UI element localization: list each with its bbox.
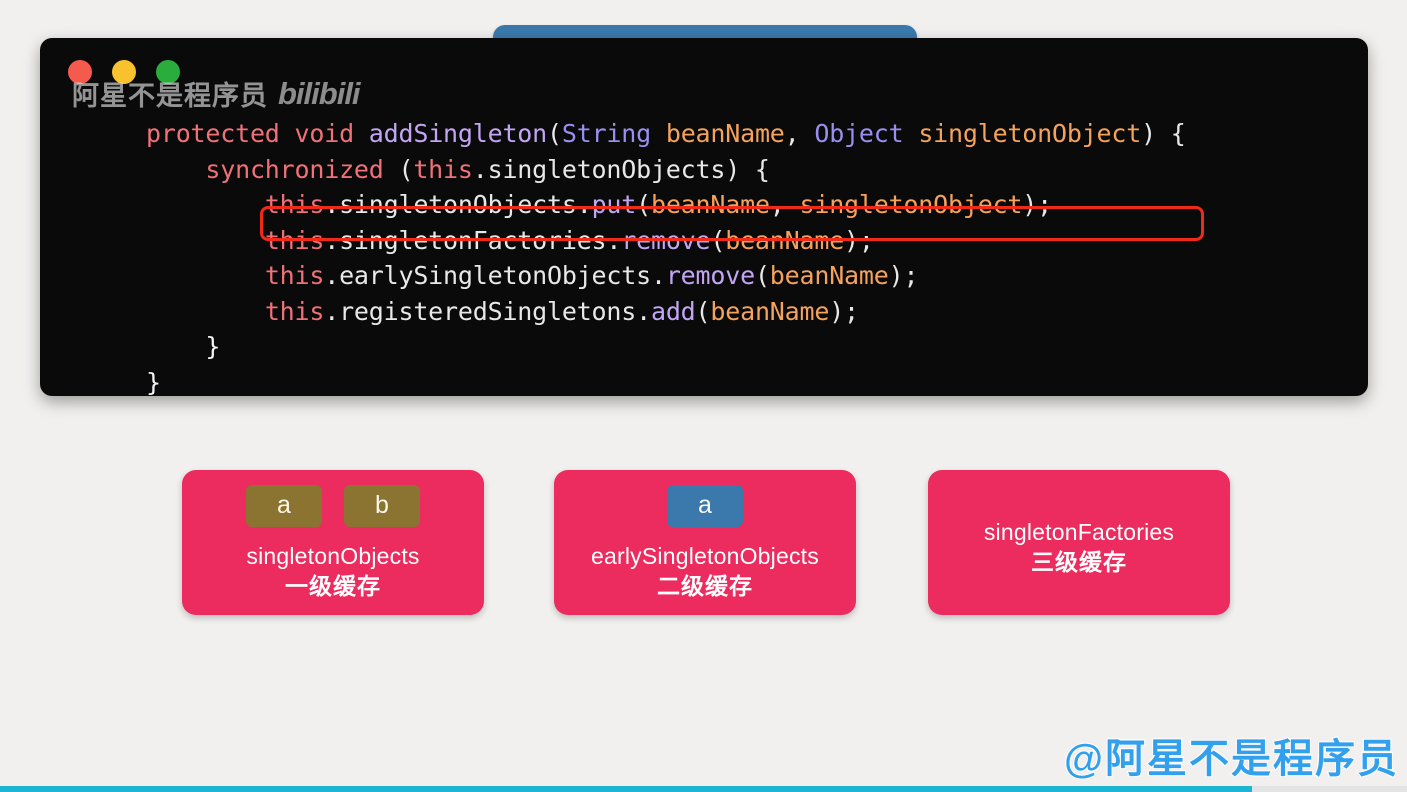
code-token: Object [814, 119, 903, 148]
minimize-window-dot-icon[interactable] [112, 60, 136, 84]
code-token: remove [621, 226, 710, 255]
cache-card-name: singletonObjects [246, 541, 419, 571]
code-indent [146, 332, 205, 361]
cache-cards-row: absingletonObjects一级缓存aearlySingletonObj… [0, 470, 1407, 615]
code-token: this [265, 190, 324, 219]
code-token: . [606, 226, 621, 255]
cache-card-name: earlySingletonObjects [591, 541, 819, 571]
video-progress-track[interactable] [0, 786, 1407, 792]
bean-chip: a [667, 485, 743, 527]
code-indent [146, 261, 265, 290]
code-indent [146, 226, 265, 255]
code-token: addSingleton [369, 119, 547, 148]
code-indent [146, 190, 265, 219]
code-token: put [592, 190, 637, 219]
code-token: beanName [710, 297, 829, 326]
code-token: ); [1022, 190, 1052, 219]
code-token: , [770, 190, 800, 219]
code-token: singletonObject [800, 190, 1023, 219]
code-token: synchronized [205, 155, 383, 184]
code-indent [146, 155, 205, 184]
code-token: remove [666, 261, 755, 290]
code-token: ( [636, 190, 651, 219]
code-line: this.registeredSingletons.add(beanName); [40, 294, 1368, 330]
cache-card-name: singletonFactories [984, 517, 1174, 547]
code-token [280, 119, 295, 148]
code-token: protected [146, 119, 280, 148]
code-token [903, 119, 918, 148]
code-token: String [562, 119, 651, 148]
code-block: protected void addSingleton(String beanN… [40, 116, 1368, 396]
video-progress-fill [0, 786, 1252, 792]
code-token: singletonObjects [339, 190, 577, 219]
close-window-dot-icon[interactable] [68, 60, 92, 84]
code-token: . [473, 155, 488, 184]
cache-card-level: 一级缓存 [285, 571, 381, 601]
code-indent [146, 297, 265, 326]
code-token: ( [696, 297, 711, 326]
code-line: this.singletonFactories.remove(beanName)… [40, 223, 1368, 259]
code-token [354, 119, 369, 148]
code-token [651, 119, 666, 148]
code-token: . [324, 261, 339, 290]
code-token: add [651, 297, 696, 326]
code-line: protected void addSingleton(String beanN… [40, 116, 1368, 152]
code-token: . [324, 190, 339, 219]
code-token: , [785, 119, 815, 148]
maximize-window-dot-icon[interactable] [156, 60, 180, 84]
watermark-bottom-right: @阿星不是程序员 [1064, 726, 1399, 784]
code-token: . [577, 190, 592, 219]
code-token: this [265, 297, 324, 326]
code-token: ); [829, 297, 859, 326]
cache-card-level: 三级缓存 [1031, 547, 1127, 577]
code-token: . [651, 261, 666, 290]
cache-chip-row: a [667, 485, 743, 527]
code-token: beanName [725, 226, 844, 255]
cache-chip-row: ab [246, 485, 420, 527]
code-token: . [324, 226, 339, 255]
code-token: earlySingletonObjects [339, 261, 651, 290]
code-token: ( [384, 155, 414, 184]
code-token: singletonObject [918, 119, 1141, 148]
code-line: synchronized (this.singletonObjects) { [40, 152, 1368, 188]
cache-card: singletonFactories三级缓存 [928, 470, 1230, 615]
code-token: ); [844, 226, 874, 255]
code-token: singletonObjects [488, 155, 726, 184]
code-token: } [146, 368, 161, 397]
cache-card: absingletonObjects一级缓存 [182, 470, 484, 615]
code-token: . [636, 297, 651, 326]
code-token: singletonFactories [339, 226, 606, 255]
cache-card-level: 二级缓存 [657, 571, 753, 601]
code-token: ( [547, 119, 562, 148]
code-token: beanName [770, 261, 889, 290]
code-token: this [413, 155, 472, 184]
bean-chip: a [246, 485, 322, 527]
code-token: ) { [1141, 119, 1186, 148]
code-line: this.earlySingletonObjects.remove(beanNa… [40, 258, 1368, 294]
code-token: registeredSingletons [339, 297, 636, 326]
code-token: ( [710, 226, 725, 255]
code-line: } [40, 329, 1368, 365]
code-token: ( [755, 261, 770, 290]
code-token: this [265, 226, 324, 255]
code-token: beanName [651, 190, 770, 219]
code-line: } [40, 365, 1368, 397]
code-token: beanName [666, 119, 785, 148]
code-token: } [205, 332, 220, 361]
code-token: this [265, 261, 324, 290]
cache-card: aearlySingletonObjects二级缓存 [554, 470, 856, 615]
code-line: this.singletonObjects.put(beanName, sing… [40, 187, 1368, 223]
code-token: void [295, 119, 354, 148]
bean-chip: b [344, 485, 420, 527]
code-token: . [324, 297, 339, 326]
code-token: ) { [725, 155, 770, 184]
code-token: ); [889, 261, 919, 290]
window-traffic-lights [68, 60, 180, 84]
code-window: protected void addSingleton(String beanN… [40, 38, 1368, 396]
bilibili-logo-icon: bilibili [278, 76, 360, 112]
